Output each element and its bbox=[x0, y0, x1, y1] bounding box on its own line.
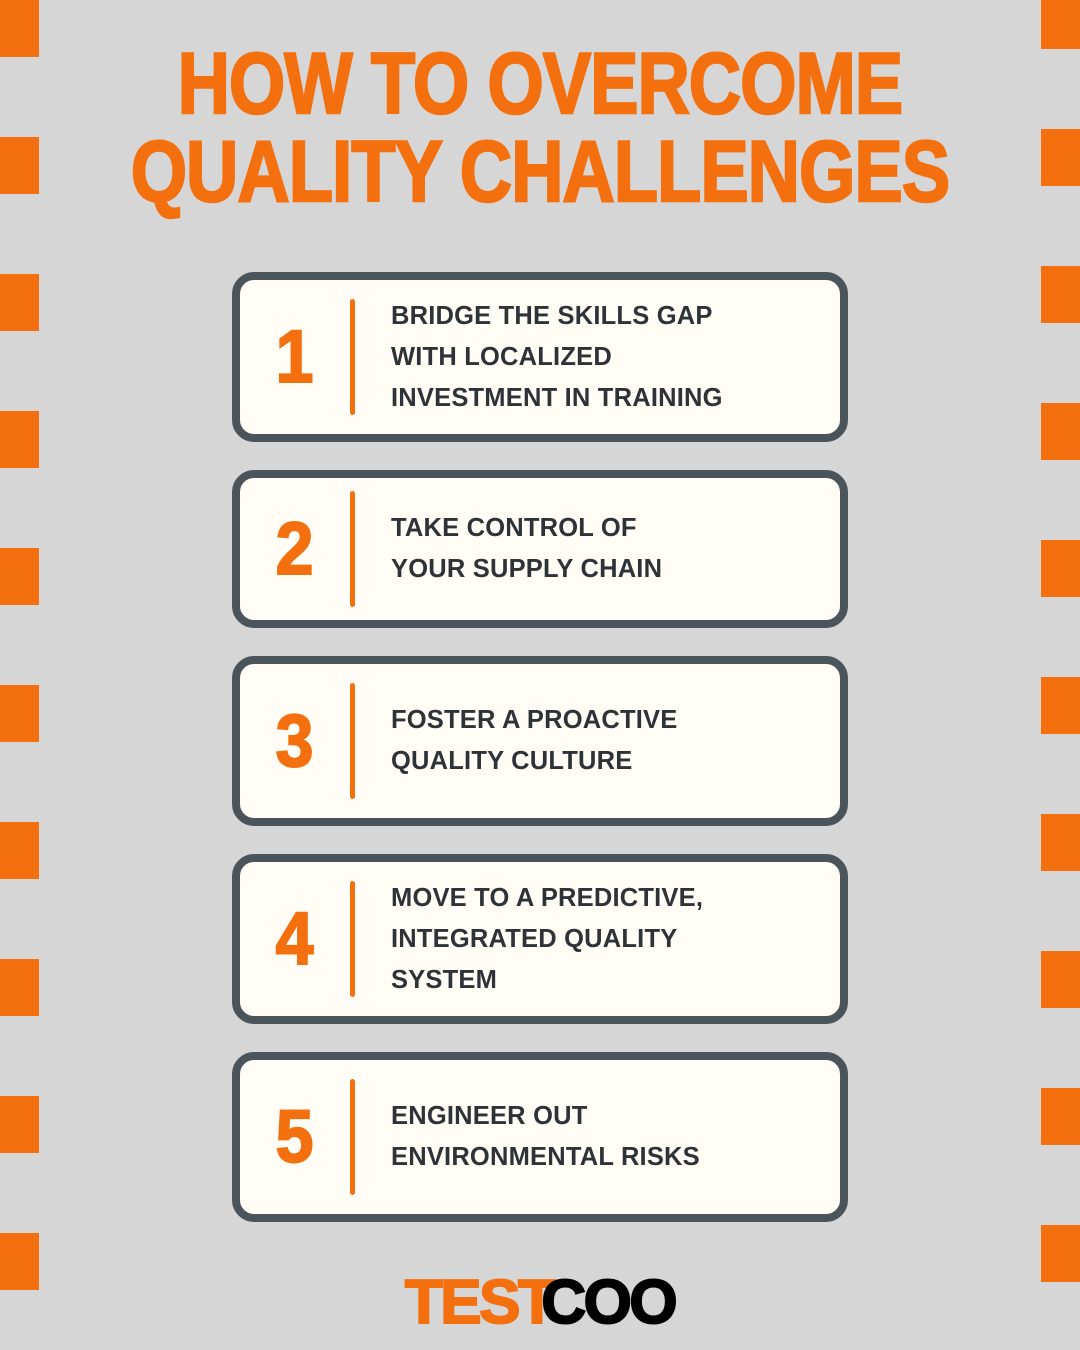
page-title-line-1: HOW TO OVERCOME bbox=[86, 40, 993, 128]
step-text-4-line-3: SYSTEM bbox=[391, 960, 822, 1001]
step-text-container-5: ENGINEER OUT ENVIRONMENTAL RISKS bbox=[355, 1096, 840, 1178]
brand-logo-test: TEST bbox=[405, 1268, 553, 1337]
step-card-1: 1 BRIDGE THE SKILLS GAP WITH LOCALIZED I… bbox=[232, 272, 848, 442]
steps-list: 1 BRIDGE THE SKILLS GAP WITH LOCALIZED I… bbox=[232, 272, 848, 1222]
step-number-3: 3 bbox=[276, 704, 314, 778]
step-number-2: 2 bbox=[276, 512, 314, 586]
step-text-container-1: BRIDGE THE SKILLS GAP WITH LOCALIZED INV… bbox=[355, 296, 840, 419]
step-text-1-line-3: INVESTMENT IN TRAINING bbox=[391, 378, 822, 419]
step-text-3-line-2: QUALITY CULTURE bbox=[391, 741, 822, 782]
step-text-4: MOVE TO A PREDICTIVE, INTEGRATED QUALITY… bbox=[391, 878, 822, 1001]
page-title: HOW TO OVERCOME QUALITY CHALLENGES bbox=[0, 40, 1080, 216]
step-card-3: 3 FOSTER A PROACTIVE QUALITY CULTURE bbox=[232, 656, 848, 826]
step-number-container-2: 2 bbox=[240, 512, 350, 586]
step-card-4: 4 MOVE TO A PREDICTIVE, INTEGRATED QUALI… bbox=[232, 854, 848, 1024]
step-text-5: ENGINEER OUT ENVIRONMENTAL RISKS bbox=[391, 1096, 822, 1178]
step-text-3-line-1: FOSTER A PROACTIVE bbox=[391, 700, 822, 741]
infographic-page: HOW TO OVERCOME QUALITY CHALLENGES 1 BRI… bbox=[0, 0, 1080, 1350]
step-number-container-1: 1 bbox=[240, 320, 350, 394]
step-text-container-4: MOVE TO A PREDICTIVE, INTEGRATED QUALITY… bbox=[355, 878, 840, 1001]
step-text-5-line-2: ENVIRONMENTAL RISKS bbox=[391, 1137, 822, 1178]
step-text-4-line-2: INTEGRATED QUALITY bbox=[391, 919, 822, 960]
step-text-4-line-1: MOVE TO A PREDICTIVE, bbox=[391, 878, 822, 919]
step-text-2-line-2: YOUR SUPPLY CHAIN bbox=[391, 549, 822, 590]
step-number-container-4: 4 bbox=[240, 902, 350, 976]
step-text-2-line-1: TAKE CONTROL OF bbox=[391, 508, 822, 549]
step-card-2: 2 TAKE CONTROL OF YOUR SUPPLY CHAIN bbox=[232, 470, 848, 628]
step-text-1-line-1: BRIDGE THE SKILLS GAP bbox=[391, 296, 822, 337]
step-text-2: TAKE CONTROL OF YOUR SUPPLY CHAIN bbox=[391, 508, 822, 590]
step-text-container-3: FOSTER A PROACTIVE QUALITY CULTURE bbox=[355, 700, 840, 782]
step-number-4: 4 bbox=[276, 902, 314, 976]
step-number-container-5: 5 bbox=[240, 1100, 350, 1174]
step-number-5: 5 bbox=[276, 1100, 314, 1174]
step-text-container-2: TAKE CONTROL OF YOUR SUPPLY CHAIN bbox=[355, 508, 840, 590]
step-number-1: 1 bbox=[276, 320, 314, 394]
step-text-1-line-2: WITH LOCALIZED bbox=[391, 337, 822, 378]
brand-logo: TESTCOO bbox=[0, 1272, 1080, 1334]
step-card-5: 5 ENGINEER OUT ENVIRONMENTAL RISKS bbox=[232, 1052, 848, 1222]
page-title-line-2: QUALITY CHALLENGES bbox=[86, 128, 993, 216]
step-number-container-3: 3 bbox=[240, 704, 350, 778]
step-text-5-line-1: ENGINEER OUT bbox=[391, 1096, 822, 1137]
brand-logo-coo: COO bbox=[541, 1268, 675, 1337]
step-text-1: BRIDGE THE SKILLS GAP WITH LOCALIZED INV… bbox=[391, 296, 822, 419]
step-text-3: FOSTER A PROACTIVE QUALITY CULTURE bbox=[391, 700, 822, 782]
